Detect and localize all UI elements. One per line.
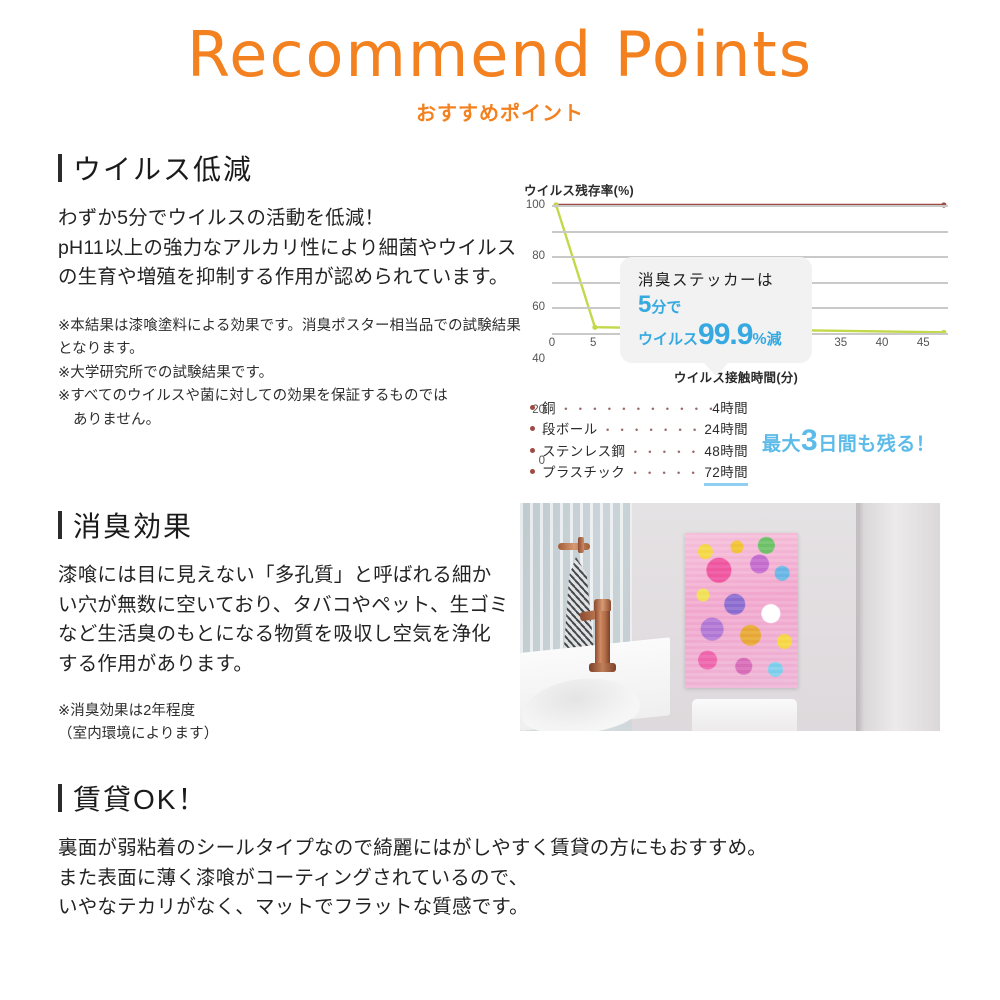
legend-bullet-icon	[530, 405, 535, 410]
legend-material-label: プラスチック	[542, 462, 625, 483]
chart-x-tick-label: 40	[876, 337, 889, 349]
photo-toilet	[692, 699, 797, 731]
page-title: Recommend Points	[0, 22, 1000, 87]
chart-gridline: 80	[552, 231, 948, 233]
note-deodor-2: （室内環境によります）	[58, 723, 510, 746]
note-virus-1: ※本結果は漆喰塗料による効果です。消臭ポスター相当品での試験結果となります。	[58, 315, 528, 362]
bathroom-photo	[520, 503, 940, 731]
note-virus-4: ありません。	[58, 409, 528, 432]
chart-y-tick-label: 80	[532, 250, 545, 262]
callout-minutes-unit: 分	[651, 299, 666, 316]
chart-x-axis-label: ウイルス接触時間(分)	[524, 367, 948, 386]
legend-row: ステンレス鋼・・・・・48時間	[530, 441, 748, 462]
section-body-rental: 裏面が弱粘着のシールタイプなので綺麗にはがしやすく賃貸の方にもおすすめ。 また表…	[58, 834, 838, 923]
legend-leader-dots: ・・・・・・・・	[598, 421, 705, 440]
callout-line-2: 5分で	[638, 293, 798, 318]
chart-x-tick-label: 45	[917, 337, 930, 349]
recommend-points-page: Recommend Points おすすめポイント ウイルス低減 わずか5分でウ…	[0, 0, 1000, 1000]
chart-x-tick-label: 5	[590, 337, 596, 349]
heading-accent-bar	[58, 784, 62, 812]
badge-prefix: 最大	[762, 434, 801, 455]
virus-survival-chart: ウイルス残存率(%) 020406080100 0510152025303540…	[524, 180, 954, 386]
callout-percent-sign: %	[752, 331, 766, 348]
section-heading: ウイルス低減	[58, 148, 528, 188]
chart-y-tick-label: 60	[532, 301, 545, 313]
legend-leader-dots: ・・・・・	[625, 443, 704, 462]
legend-bullet-icon	[530, 426, 535, 431]
heading-accent-bar	[58, 154, 62, 182]
chart-data-point	[592, 325, 597, 330]
legend-row: 段ボール・・・・・・・・24時間	[530, 419, 748, 440]
legend-duration-value: 4時間	[712, 398, 748, 419]
note-virus-3: ※すべてのウイルスや菌に対しての効果を保証するものでは	[58, 385, 528, 408]
callout-minutes-tail: で	[666, 299, 681, 316]
photo-faucet-top	[594, 599, 611, 611]
badge-number: 3	[801, 424, 818, 457]
photo-corner-shadow	[856, 503, 864, 731]
legend-row: プラスチック・・・・・72時間	[530, 462, 748, 486]
photo-wall-right	[858, 503, 940, 731]
section-title-deodor: 消臭効果	[73, 505, 193, 545]
photo-faucet-body	[595, 603, 610, 669]
note-virus-2: ※大学研究所での試験結果です。	[58, 362, 528, 385]
section-deodorizing-effect: 消臭効果 漆喰には目に見えない「多孔質」と呼ばれる細かい穴が無数に空いており、タ…	[58, 505, 510, 746]
badge-suffix: 日間も残る！	[818, 434, 935, 455]
chart-y-tick-label: 40	[532, 353, 545, 365]
chart-plot-wrapper: 020406080100 051015202530354045 消臭ステッカーは…	[524, 205, 948, 345]
chart-y-tick-label: 100	[526, 199, 545, 211]
section-virus-reduction: ウイルス低減 わずか5分でウイルスの活動を低減！ pH11以上の強力なアルカリ性…	[58, 148, 528, 432]
chart-x-tick-label: 35	[834, 337, 847, 349]
photo-poster-texture	[685, 533, 798, 688]
legend-bullet-icon	[530, 469, 535, 474]
page-header: Recommend Points おすすめポイント	[0, 0, 1000, 126]
legend-bullet-icon	[530, 448, 535, 453]
legend-material-label: 銅	[542, 398, 556, 419]
chart-gridline: 100	[552, 205, 948, 207]
page-subtitle: おすすめポイント	[0, 97, 1000, 126]
section-heading: 消臭効果	[58, 505, 510, 545]
photo-towel-hook-bar	[558, 543, 590, 550]
legend-row: 銅・・・・・・・・・・・4時間	[530, 398, 748, 419]
legend-material-label: ステンレス鋼	[542, 441, 625, 462]
note-deodor-1: ※消臭効果は2年程度	[58, 700, 510, 723]
heading-accent-bar	[58, 511, 62, 539]
chart-callout-bubble: 消臭ステッカーは 5分で ウイルス99.9%減	[620, 257, 812, 363]
chart-x-tick-label: 0	[549, 337, 555, 349]
legend-material-label: 段ボール	[542, 419, 598, 440]
section-body-virus: わずか5分でウイルスの活動を低減！ pH11以上の強力なアルカリ性により細菌やウ…	[58, 204, 528, 293]
legend-row-list: 銅・・・・・・・・・・・4時間段ボール・・・・・・・・24時間ステンレス鋼・・・…	[530, 398, 748, 486]
section-title-virus: ウイルス低減	[73, 148, 253, 188]
section-title-rental: 賃貸OK！	[73, 778, 207, 818]
callout-line-1: 消臭ステッカーは	[638, 268, 798, 290]
legend-duration-value: 24時間	[704, 419, 748, 440]
section-rental-ok: 賃貸OK！ 裏面が弱粘着のシールタイプなので綺麗にはがしやすく賃貸の方にもおすす…	[58, 778, 838, 923]
legend-leader-dots: ・・・・・・・・・・・	[556, 400, 712, 419]
legend-duration-value: 48時間	[704, 441, 748, 462]
callout-reduce-word: 減	[767, 331, 782, 348]
section-body-deodor: 漆喰には目に見えない「多孔質」と呼ばれる細かい穴が無数に空いており、タバコやペッ…	[58, 561, 510, 680]
callout-percent-number: 99.9	[698, 318, 752, 351]
callout-minutes-number: 5	[638, 291, 651, 318]
section-heading: 賃貸OK！	[58, 778, 838, 818]
legend-badge: 最大3日間も残る！	[762, 424, 935, 458]
chart-y-axis-label: ウイルス残存率(%)	[524, 180, 954, 199]
legend-leader-dots: ・・・・・	[625, 464, 704, 483]
photo-towel-hook-stem	[578, 537, 584, 553]
surface-survival-legend: 銅・・・・・・・・・・・4時間段ボール・・・・・・・・24時間ステンレス鋼・・・…	[530, 398, 950, 486]
callout-virus-word: ウイルス	[638, 331, 698, 348]
photo-faucet-base	[589, 663, 616, 672]
callout-line-3: ウイルス99.9%減	[638, 319, 798, 350]
legend-duration-value: 72時間	[704, 462, 748, 486]
